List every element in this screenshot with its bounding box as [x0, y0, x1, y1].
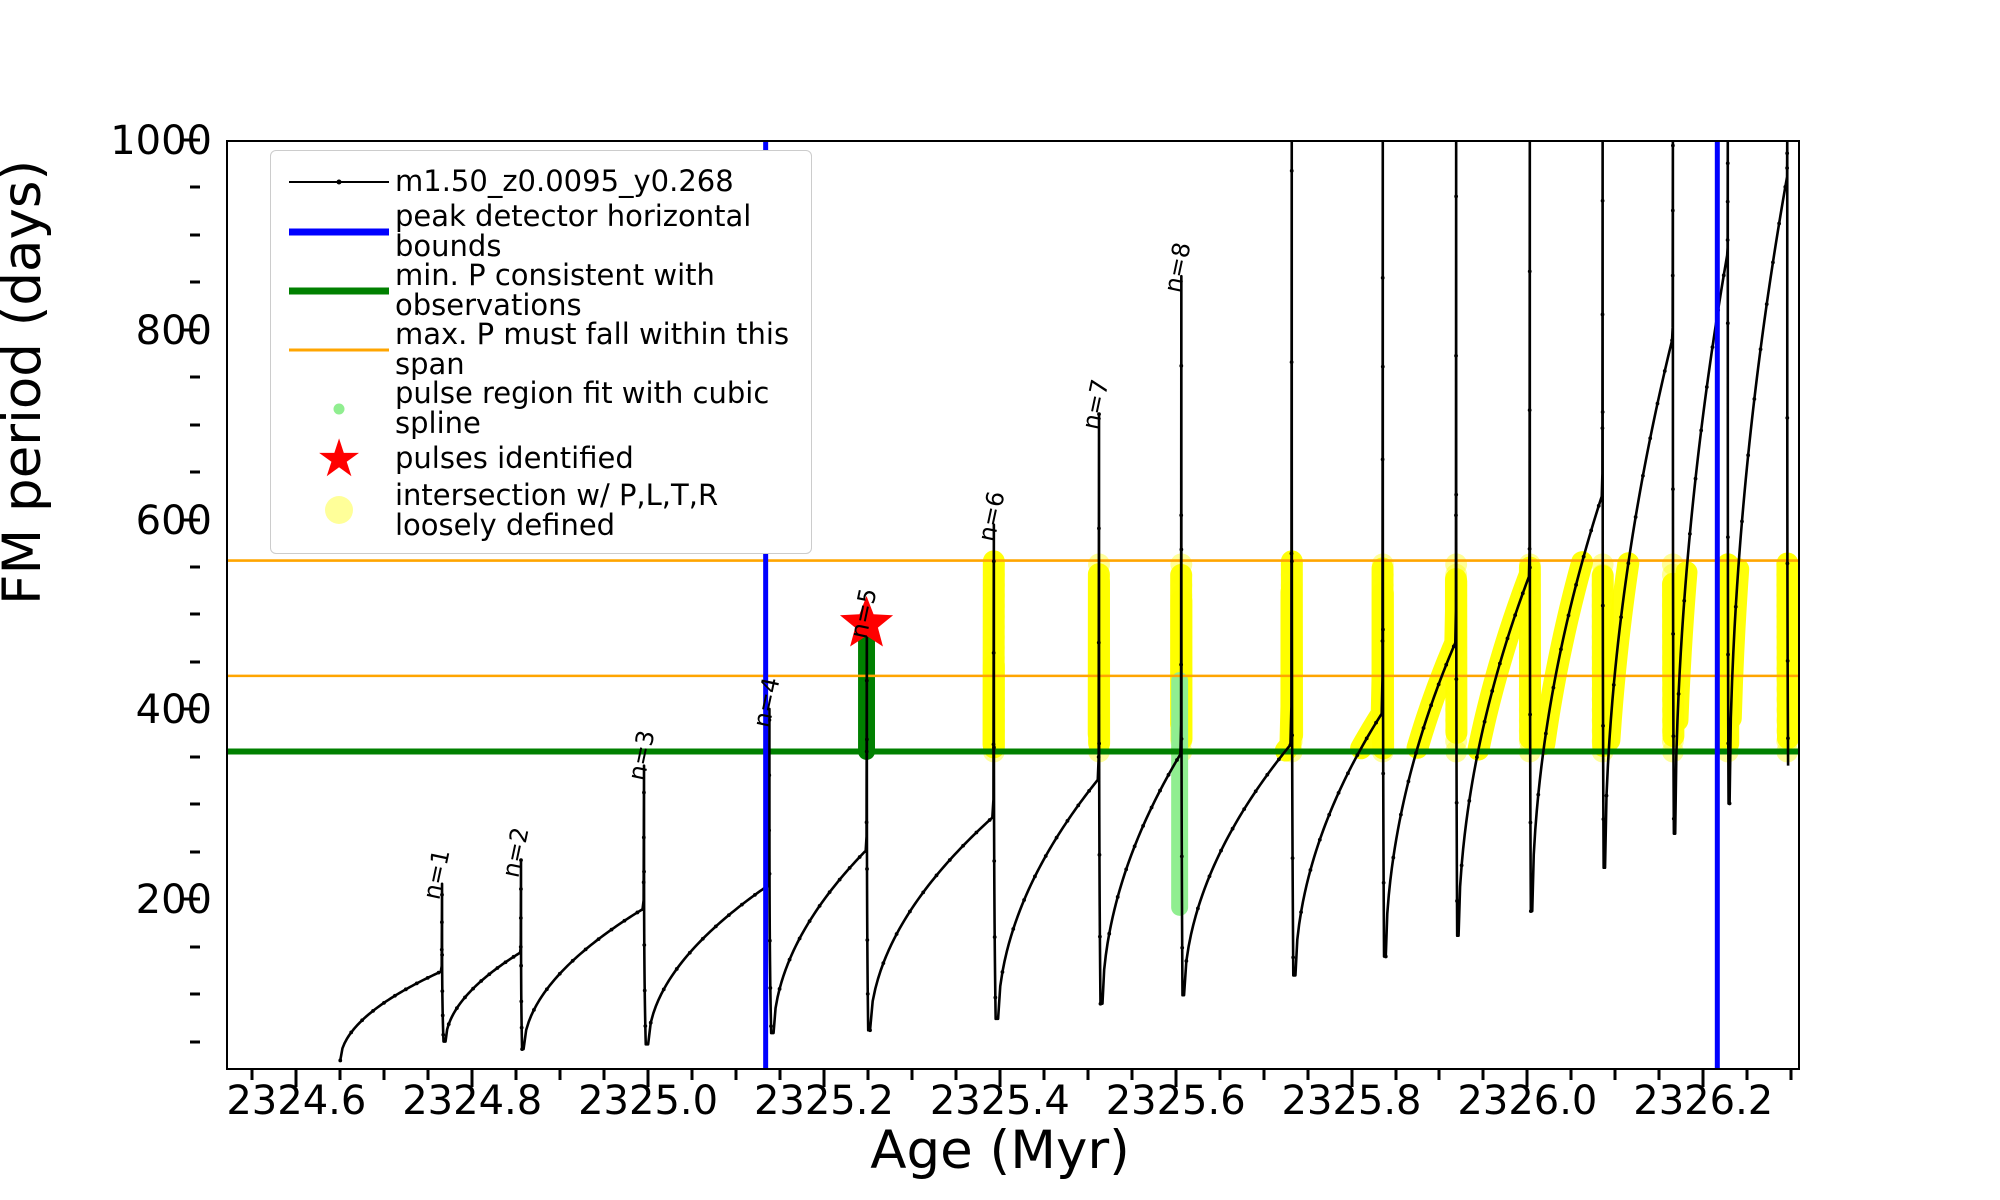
legend-label-max-period: max. P must fall within this span — [395, 320, 799, 379]
y-tick-minor — [190, 566, 200, 569]
x-tick-minor — [1570, 1070, 1573, 1080]
x-tick-minor — [559, 1070, 562, 1080]
legend-entry-peak-bounds[interactable]: peak detector horizontal bounds — [283, 202, 799, 261]
green-dot-icon — [283, 391, 395, 427]
x-tick-minor — [866, 1070, 869, 1080]
y-tick-label: 400 — [52, 687, 212, 733]
blue-line-icon — [283, 214, 395, 250]
y-tick-minor — [190, 186, 200, 189]
yellow-patch-icon — [283, 492, 395, 528]
legend-label-peak-bounds: peak detector horizontal bounds — [395, 202, 799, 261]
x-tick-minor — [1614, 1070, 1617, 1080]
x-tick-minor — [1218, 1070, 1221, 1080]
y-axis-label: FM period (days) — [0, 160, 53, 605]
y-tick-minor — [190, 423, 200, 426]
y-tick-minor — [190, 613, 200, 616]
legend-entry-min-period[interactable]: min. P consistent with observations — [283, 261, 799, 320]
x-tick-minor — [1790, 1070, 1793, 1080]
x-tick-minor — [427, 1070, 430, 1080]
x-tick-minor — [1042, 1070, 1045, 1080]
y-tick-minor — [190, 660, 200, 663]
legend-entry-max-period[interactable]: max. P must fall within this span — [283, 320, 799, 379]
y-tick-label: 200 — [52, 877, 212, 923]
x-tick-minor — [735, 1070, 738, 1080]
y-tick-minor — [190, 850, 200, 853]
y-tick-label: 1000 — [52, 118, 212, 164]
y-tick-minor — [190, 755, 200, 758]
x-tick-minor — [954, 1070, 957, 1080]
chart-legend[interactable]: m1.50_z0.0095_y0.268 peak detector horiz… — [270, 150, 812, 554]
y-tick-minor — [190, 993, 200, 996]
x-tick-minor — [1262, 1070, 1265, 1080]
y-tick-minor — [190, 471, 200, 474]
y-tick-minor — [190, 803, 200, 806]
legend-entry-pulses[interactable]: ★ pulses identified — [283, 439, 799, 480]
x-tick-minor — [1086, 1070, 1089, 1080]
y-tick-minor — [190, 376, 200, 379]
x-tick-minor — [251, 1070, 254, 1080]
legend-entry-model[interactable]: m1.50_z0.0095_y0.268 — [283, 161, 799, 202]
x-tick-minor — [515, 1070, 518, 1080]
y-tick-label: 600 — [52, 498, 212, 544]
y-tick-minor — [190, 945, 200, 948]
x-tick-minor — [603, 1070, 606, 1080]
x-tick-minor — [691, 1070, 694, 1080]
x-tick-minor — [1306, 1070, 1309, 1080]
green-line-icon — [283, 273, 395, 309]
red-star-icon: ★ — [283, 441, 395, 477]
x-tick-minor — [1130, 1070, 1133, 1080]
legend-label-spline: pulse region fit with cubic spline — [395, 379, 799, 438]
y-tick-minor — [190, 281, 200, 284]
x-axis-label: Age (Myr) — [0, 1120, 2000, 1181]
x-tick-minor — [1482, 1070, 1485, 1080]
x-tick-minor — [1394, 1070, 1397, 1080]
black-line-marker-icon — [283, 164, 395, 200]
y-tick-label: 800 — [52, 308, 212, 354]
x-tick-minor — [339, 1070, 342, 1080]
legend-label-pulses: pulses identified — [395, 444, 634, 474]
legend-label-min-period: min. P consistent with observations — [395, 261, 799, 320]
x-tick-minor — [383, 1070, 386, 1080]
y-tick-minor — [190, 1040, 200, 1043]
x-tick-label: 2326.2 — [1573, 1078, 1833, 1124]
x-tick-minor — [778, 1070, 781, 1080]
legend-label-intersection-2: loosely defined — [395, 508, 615, 542]
x-tick-minor — [1746, 1070, 1749, 1080]
legend-label-intersection: intersection w/ P,L,T,R — [395, 478, 718, 512]
legend-label-model: m1.50_z0.0095_y0.268 — [395, 167, 734, 197]
orange-line-icon — [283, 332, 395, 368]
chart-root: FM period (days) Age (Myr) 2004006008001… — [0, 0, 2000, 1200]
x-tick-minor — [910, 1070, 913, 1080]
x-tick-minor — [1658, 1070, 1661, 1080]
x-tick-minor — [1438, 1070, 1441, 1080]
y-tick-minor — [190, 233, 200, 236]
